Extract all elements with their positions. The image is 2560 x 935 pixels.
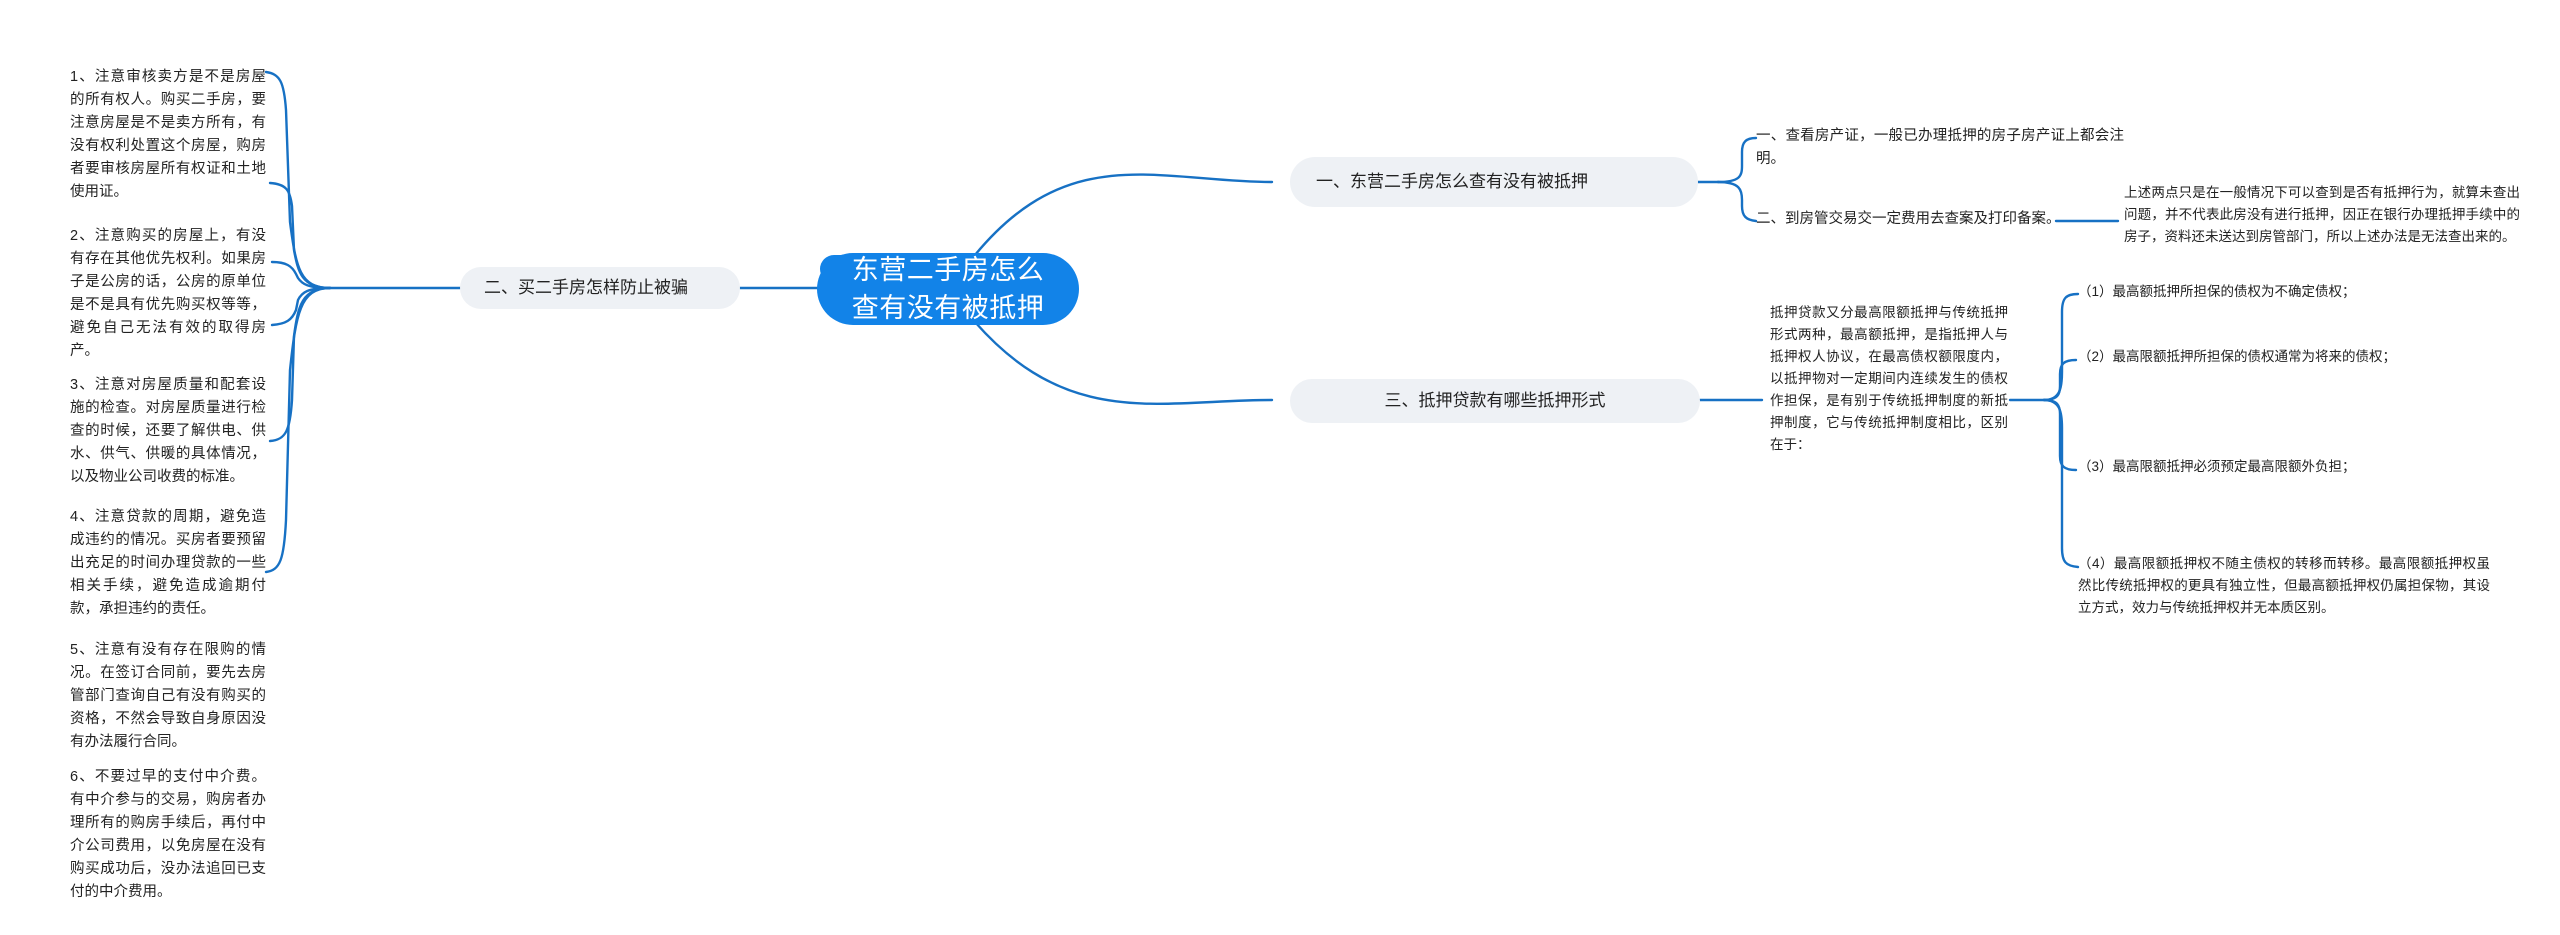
edge-desc-item-2 [2044, 360, 2076, 400]
root-node[interactable]: 东营二手房怎么查有没有被抵押 [817, 253, 1079, 325]
mindmap-canvas: 东营二手房怎么查有没有被抵押 二、买二手房怎样防止被骗 1、注意审核卖方是不是房… [0, 0, 2560, 935]
left-item-5[interactable]: 5、注意有没有存在限购的情况。在签订合同前，要先去房管部门查询自己有没有购买的资… [70, 639, 266, 754]
edge-left-item-4 [272, 288, 330, 325]
left-item-4[interactable]: 4、注意贷款的周期，避免造成违约的情况。买房者要预留出充足的时间办理贷款的一些相… [70, 506, 266, 621]
edge-left-item-5 [270, 288, 330, 441]
edge-desc-item-3 [2044, 400, 2076, 470]
left-item-6[interactable]: 6、不要过早的支付中介费。有中介参与的交易，购房者办理所有的购房手续后，再付中介… [70, 766, 266, 904]
right-b2-sub-item-1[interactable]: （1）最高额抵押所担保的债权为不确定债权； [2078, 281, 2490, 303]
edge-left-item-6 [266, 288, 330, 572]
edge-desc-item-1 [2044, 294, 2078, 400]
right-b2-sub-item-3[interactable]: （3）最高限额抵押必须预定最高限额外负担； [2078, 456, 2490, 478]
right-b1-child-2-note[interactable]: 上述两点只是在一般情况下可以查到是否有抵押行为，就算未查出问题，并不代表此房没有… [2124, 182, 2520, 248]
right-b1-child-2[interactable]: 二、到房管交易交一定费用去查案及打印备案。 [1756, 208, 2124, 231]
edge-left-item-1 [266, 72, 330, 288]
branch-right-how-to-check-mortgage[interactable]: 一、东营二手房怎么查有没有被抵押 [1290, 157, 1698, 207]
edge-root-to-right-branch-1 [975, 175, 1272, 255]
edge-desc-item-4 [2044, 400, 2078, 567]
edge-rb1-child-1 [1718, 138, 1756, 182]
edge-left-item-3 [272, 262, 330, 288]
right-b2-sub-item-2[interactable]: （2）最高限额抵押所担保的债权通常为将来的债权； [2078, 346, 2490, 368]
left-item-3[interactable]: 3、注意对房屋质量和配套设施的检查。对房屋质量进行检查的时候，还要了解供电、供水… [70, 374, 266, 489]
branch-right-mortgage-loan-forms[interactable]: 三、抵押贷款有哪些抵押形式 [1290, 379, 1700, 423]
right-b2-description[interactable]: 抵押贷款又分最高限额抵押与传统抵押形式两种，最高额抵押，是指抵押人与抵押权人协议… [1770, 302, 2008, 456]
right-b2-sub-item-4[interactable]: （4）最高限额抵押权不随主债权的转移而转移。最高限额抵押权虽然比传统抵押权的更具… [2078, 553, 2490, 619]
right-b1-child-1[interactable]: 一、查看房产证，一般已办理抵押的房子房产证上都会注明。 [1756, 125, 2124, 171]
edge-rb1-child-2 [1718, 182, 1756, 221]
left-item-1[interactable]: 1、注意审核卖方是不是房屋的所有权人。购买二手房，要注意房屋是不是卖方所有，有没… [70, 66, 266, 204]
edge-left-item-2 [270, 183, 330, 288]
edge-root-to-right-branch-2 [975, 322, 1272, 404]
branch-left-buy-secondhand-house[interactable]: 二、买二手房怎样防止被骗 [460, 267, 740, 309]
left-item-2[interactable]: 2、注意购买的房屋上，有没有存在其他优先权利。如果房子是公房的话，公房的原单位是… [70, 225, 266, 363]
